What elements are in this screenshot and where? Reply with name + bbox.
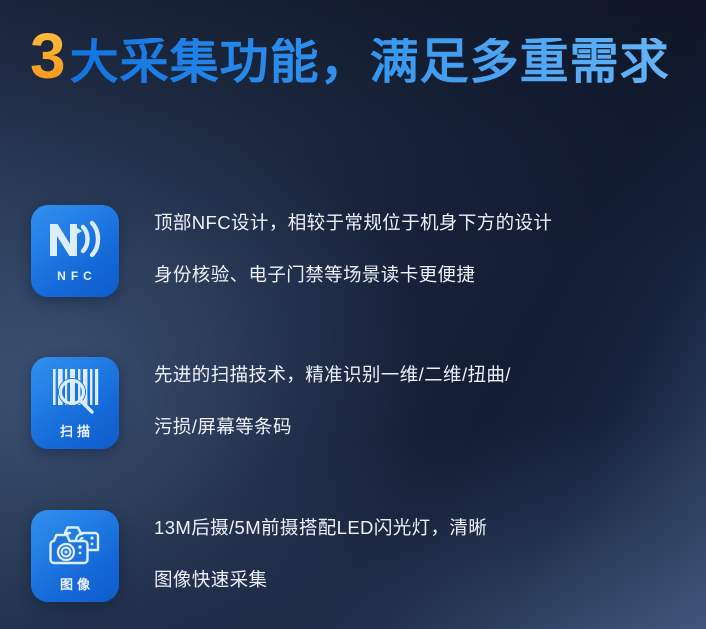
feature-line: 13M后摄/5M前摄搭配LED闪光灯，清晰 [154,514,487,540]
feature-line: 先进的扫描技术，精准识别一维/二维/扭曲/ [154,361,511,387]
page-title: 3 大采集功能，满足多重需求 [30,24,670,88]
headline-text: 大采集功能，满足多重需求 [70,38,670,87]
feature-icon-label-nfc: NFC [53,269,97,283]
feature-list: NFC 顶部NFC设计，相较于常规位于机身下方的设计 身份核验、电子门禁等场景读… [0,0,706,629]
camera-image-icon [31,519,119,569]
feature-item-nfc: NFC 顶部NFC设计，相较于常规位于机身下方的设计 身份核验、电子门禁等场景读… [31,205,552,297]
feature-icon-label-image: 图像 [56,574,94,593]
feature-icon-label-scan: 扫描 [56,421,94,440]
feature-line: 顶部NFC设计，相较于常规位于机身下方的设计 [154,209,552,235]
feature-text-nfc: 顶部NFC设计，相较于常规位于机身下方的设计 身份核验、电子门禁等场景读卡更便捷 [154,205,552,287]
nfc-icon [31,214,119,264]
feature-icon-tile-scan: 扫描 [31,357,119,449]
barcode-scan-icon [31,366,119,416]
feature-icon-tile-image: 图像 [31,510,119,602]
feature-line: 图像快速采集 [154,566,487,592]
feature-icon-tile-nfc: NFC [31,205,119,297]
feature-line: 污损/屏幕等条码 [154,413,511,439]
headline-number: 3 [30,24,65,88]
feature-text-image: 13M后摄/5M前摄搭配LED闪光灯，清晰 图像快速采集 [154,510,487,592]
feature-text-scan: 先进的扫描技术，精准识别一维/二维/扭曲/ 污损/屏幕等条码 [154,357,511,439]
feature-item-scan: 扫描 先进的扫描技术，精准识别一维/二维/扭曲/ 污损/屏幕等条码 [31,357,511,449]
feature-item-image: 图像 13M后摄/5M前摄搭配LED闪光灯，清晰 图像快速采集 [31,510,487,602]
feature-line: 身份核验、电子门禁等场景读卡更便捷 [154,261,552,287]
